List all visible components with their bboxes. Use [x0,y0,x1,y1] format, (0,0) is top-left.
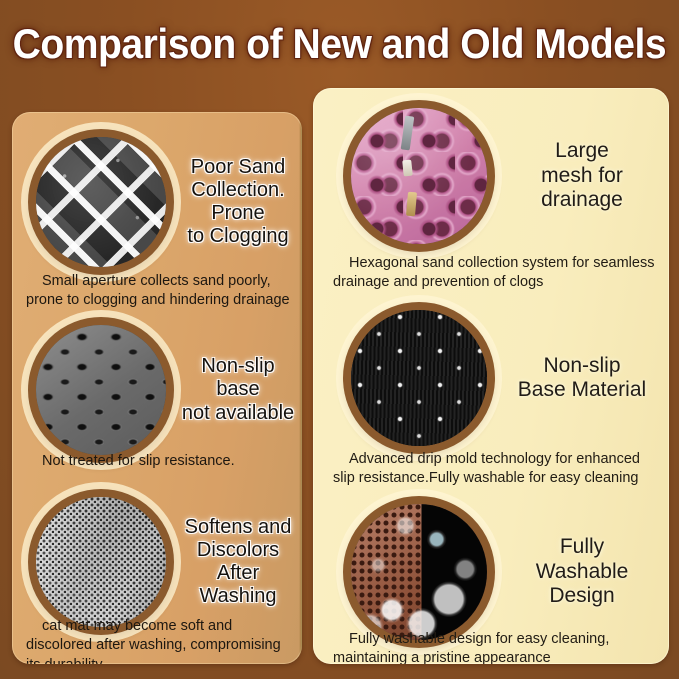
black-nonslip-fabric-photo [343,302,495,454]
new-item-1-image-wrap [343,100,495,252]
old-item-1-headline: Poor Sand Collection. Prone to Clogging [174,156,302,249]
new-item-1-headline: Large mesh for drainage [495,139,669,212]
old-item-2-image-wrap [28,317,174,463]
title-bar: Comparison of New and Old Models [0,0,679,88]
new-model-panel: Large mesh for drainage Hexagonal sand c… [313,88,669,664]
page-title: Comparison of New and Old Models [13,20,667,68]
old-item-3-headline: Softens and Discolors After Washing [174,516,302,609]
debris-white-icon [402,160,413,177]
old-model-panel: Poor Sand Collection. Prone to Clogging … [12,112,302,664]
old-item-2-caption: Not treated for slip resistance. [26,452,294,471]
hexagonal-mat-texture [351,108,487,244]
soap-bubbles-texture [351,504,487,640]
old-item-1-image-wrap [28,129,174,275]
waffle-texture [36,137,166,267]
new-item-3-caption: Fully washable design for easy cleaning,… [333,630,663,664]
new-item-1: Large mesh for drainage [313,90,669,262]
new-item-2-image-wrap [343,302,495,454]
old-item-1: Poor Sand Collection. Prone to Clogging [12,122,302,282]
black-fabric-texture [351,310,487,446]
new-item-3-headline: Fully Washable Design [495,535,669,608]
new-item-2-caption: Advanced drip mold technology for enhanc… [333,450,663,489]
old-item-1-caption: Small aperture collects sand poorly, pro… [26,272,294,311]
rubber-nub-texture [36,325,166,455]
old-item-2: Non-slip base not available [12,310,302,470]
grey-rubber-nub-texture-photo [28,317,174,463]
infographic-poster: Comparison of New and Old Models Poor Sa… [0,0,679,679]
fine-mesh-fabric-photo [28,489,174,635]
new-item-3-image-wrap [343,496,495,648]
old-item-2-headline: Non-slip base not available [174,355,302,425]
new-item-2: Non-slip Base Material [313,292,669,464]
new-item-1-caption: Hexagonal sand collection system for sea… [333,254,655,293]
pink-hexagonal-mat-photo [343,100,495,252]
fine-mesh-texture [36,497,166,627]
old-item-3-caption: cat mat may become soft and discolored a… [26,617,298,664]
new-item-2-headline: Non-slip Base Material [495,354,669,403]
soap-bubbles-washing-photo [343,496,495,648]
old-item-3-image-wrap [28,489,174,635]
grey-waffle-grid-photo [28,129,174,275]
